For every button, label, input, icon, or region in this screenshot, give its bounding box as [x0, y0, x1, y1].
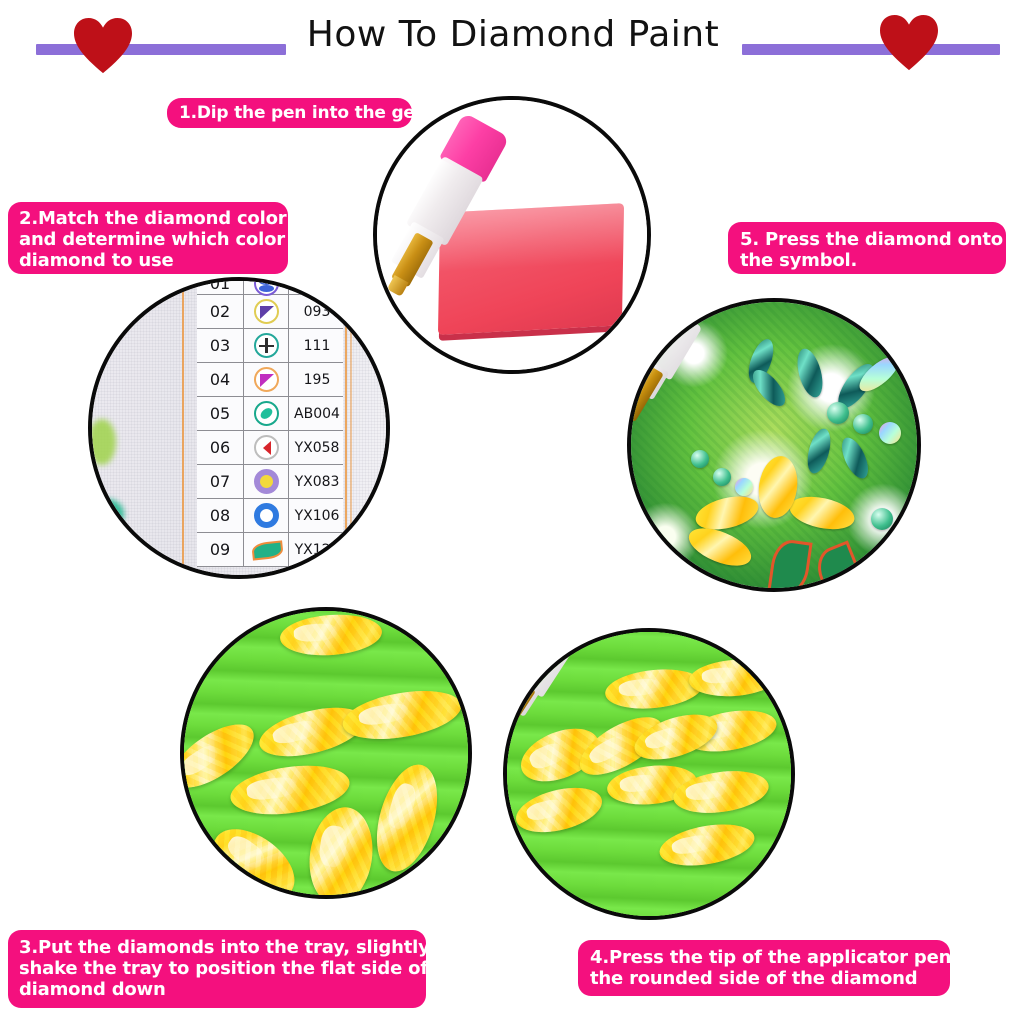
- canvas-symbol-mark: [97, 532, 116, 547]
- pen-metal-tip: [627, 365, 664, 422]
- step-1-label: 1.Dip the pen into the gel: [167, 98, 412, 128]
- chart-margin-line: [350, 281, 352, 575]
- step-2-label-line-2: and determine which color: [19, 229, 277, 250]
- placed-gem: [735, 478, 753, 496]
- chart-row-code: AB004: [289, 397, 343, 430]
- chart-row-number: 06: [197, 431, 244, 464]
- step-2-label: 2.Match the diamond colorand determine w…: [8, 202, 288, 274]
- chart-row-code: 111: [289, 329, 343, 362]
- chart-row-symbol: [244, 499, 289, 532]
- gel-photo: [377, 100, 647, 370]
- canvas-print-blob: [90, 499, 124, 529]
- applicator-pen: [627, 305, 709, 441]
- plus-icon: [254, 333, 279, 358]
- color-chart-table: 0102802093031110419505AB00406YX05807YX08…: [197, 277, 343, 567]
- step-2-label-line-3: diamond to use: [19, 250, 277, 271]
- oval-icon: [254, 401, 279, 426]
- header-rule-right: [742, 44, 1000, 55]
- chart-row-code: 195: [289, 363, 343, 396]
- color-chart-row: 04195: [197, 363, 343, 397]
- color-chart-row: 08YX106: [197, 499, 343, 533]
- chart-row-code: 028: [289, 277, 343, 294]
- placed-gem: [747, 365, 791, 412]
- chart-row-symbol: [244, 533, 289, 566]
- chart-row-number: 04: [197, 363, 244, 396]
- pen-metal-tip: [503, 681, 536, 738]
- step-5-label-line-2: the symbol.: [740, 250, 994, 271]
- chart-row-code: YX125: [289, 533, 343, 566]
- step-3-label-line-1: 3.Put the diamonds into the tray, slight…: [19, 937, 415, 958]
- color-chart-row: 07YX083: [197, 465, 343, 499]
- step-3-photo: [180, 607, 472, 899]
- color-chart-row: 09YX125: [197, 533, 343, 567]
- diamond-gem: [339, 683, 465, 747]
- step-4-label-line-1: 4.Press the tip of the applicator pen to: [590, 947, 938, 968]
- placed-gem: [853, 414, 873, 434]
- step-1-photo: [373, 96, 651, 374]
- placed-gem: [793, 346, 827, 400]
- chart-row-symbol: [244, 397, 289, 430]
- chart-row-code: YX058: [289, 431, 343, 464]
- step-5-label: 5. Press the diamond ontothe symbol.: [728, 222, 1006, 274]
- heart-icon: [878, 14, 940, 72]
- canvas-print-blob: [88, 419, 116, 465]
- placed-gem: [879, 422, 901, 444]
- dot-ring-icon: [254, 469, 279, 494]
- chart-row-symbol: [244, 329, 289, 362]
- diamond-gem: [366, 758, 448, 879]
- chart-row-code: YX106: [289, 499, 343, 532]
- chart-margin-line: [182, 281, 184, 575]
- step-4-label: 4.Press the tip of the applicator pen to…: [578, 940, 950, 996]
- heart-icon: [72, 17, 134, 75]
- step-1-label-line-1: 1.Dip the pen into the gel: [179, 103, 400, 123]
- ring-icon: [254, 503, 279, 528]
- color-chart-row: 01028: [197, 277, 343, 295]
- color-chart-row: 03111: [197, 329, 343, 363]
- chart-row-symbol: [244, 295, 289, 328]
- diamond-gem: [603, 665, 704, 713]
- step-3-label-line-2: shake the tray to position the flat side…: [19, 958, 415, 979]
- placed-gem: [837, 434, 874, 482]
- diamond-gem: [629, 706, 723, 769]
- step-3-label-line-3: diamond down: [19, 979, 415, 1000]
- diamond-gem: [511, 780, 606, 840]
- triangle-icon: [254, 367, 279, 392]
- diamond-gem: [688, 657, 780, 699]
- yellow-marquise-gem: [787, 491, 858, 534]
- step-4-label-line-2: the rounded side of the diamond: [590, 968, 938, 989]
- color-chart-photo: 0102802093031110419505AB00406YX05807YX08…: [92, 281, 386, 575]
- green-tray-photo: [507, 632, 791, 916]
- diamond-gem: [656, 818, 757, 872]
- chart-row-number: 08: [197, 499, 244, 532]
- diamond-gem: [201, 815, 307, 899]
- color-chart-row: 06YX058: [197, 431, 343, 465]
- header: How To Diamond Paint: [0, 0, 1024, 92]
- color-chart-row: 05AB004: [197, 397, 343, 431]
- placed-gem: [713, 468, 731, 486]
- placed-gem: [871, 508, 893, 530]
- printed-petal: [767, 538, 812, 592]
- chart-row-number: 02: [197, 295, 244, 328]
- page-title: How To Diamond Paint: [288, 14, 738, 55]
- step-2-label-line-1: 2.Match the diamond color: [19, 208, 277, 229]
- step-2-photo: 0102802093031110419505AB00406YX05807YX08…: [88, 277, 390, 579]
- leaf-icon: [254, 537, 279, 562]
- chart-row-symbol: [244, 431, 289, 464]
- chart-row-number: 05: [197, 397, 244, 430]
- arrow-icon: [254, 435, 279, 460]
- printed-petal: [811, 540, 868, 592]
- step-5-photo: [627, 298, 921, 592]
- chart-row-symbol: [244, 363, 289, 396]
- diamond-gem: [279, 611, 384, 658]
- green-tray-photo: [184, 611, 468, 895]
- step-3-label: 3.Put the diamonds into the tray, slight…: [8, 930, 426, 1008]
- chart-row-symbol: [244, 465, 289, 498]
- step-5-label-line-1: 5. Press the diamond onto: [740, 229, 994, 250]
- chart-row-code: YX083: [289, 465, 343, 498]
- placed-gem: [691, 450, 709, 468]
- diamond-canvas-photo: [631, 302, 917, 588]
- chart-margin-line: [345, 281, 347, 575]
- infographic-canvas: How To Diamond Paint 0102802093031110419…: [0, 0, 1024, 1024]
- diamond-gem: [303, 803, 378, 899]
- chart-row-number: 01: [197, 277, 244, 294]
- color-chart-row: 02093: [197, 295, 343, 329]
- chart-row-number: 07: [197, 465, 244, 498]
- chart-row-symbol: [244, 277, 289, 294]
- placed-gem: [827, 402, 849, 424]
- triangle-icon: [254, 299, 279, 324]
- placed-gem: [803, 426, 834, 476]
- chart-row-code: 093: [289, 295, 343, 328]
- double-dot-circle-icon: [254, 277, 279, 296]
- step-4-photo: [503, 628, 795, 920]
- chart-row-number: 03: [197, 329, 244, 362]
- chart-row-number: 09: [197, 533, 244, 566]
